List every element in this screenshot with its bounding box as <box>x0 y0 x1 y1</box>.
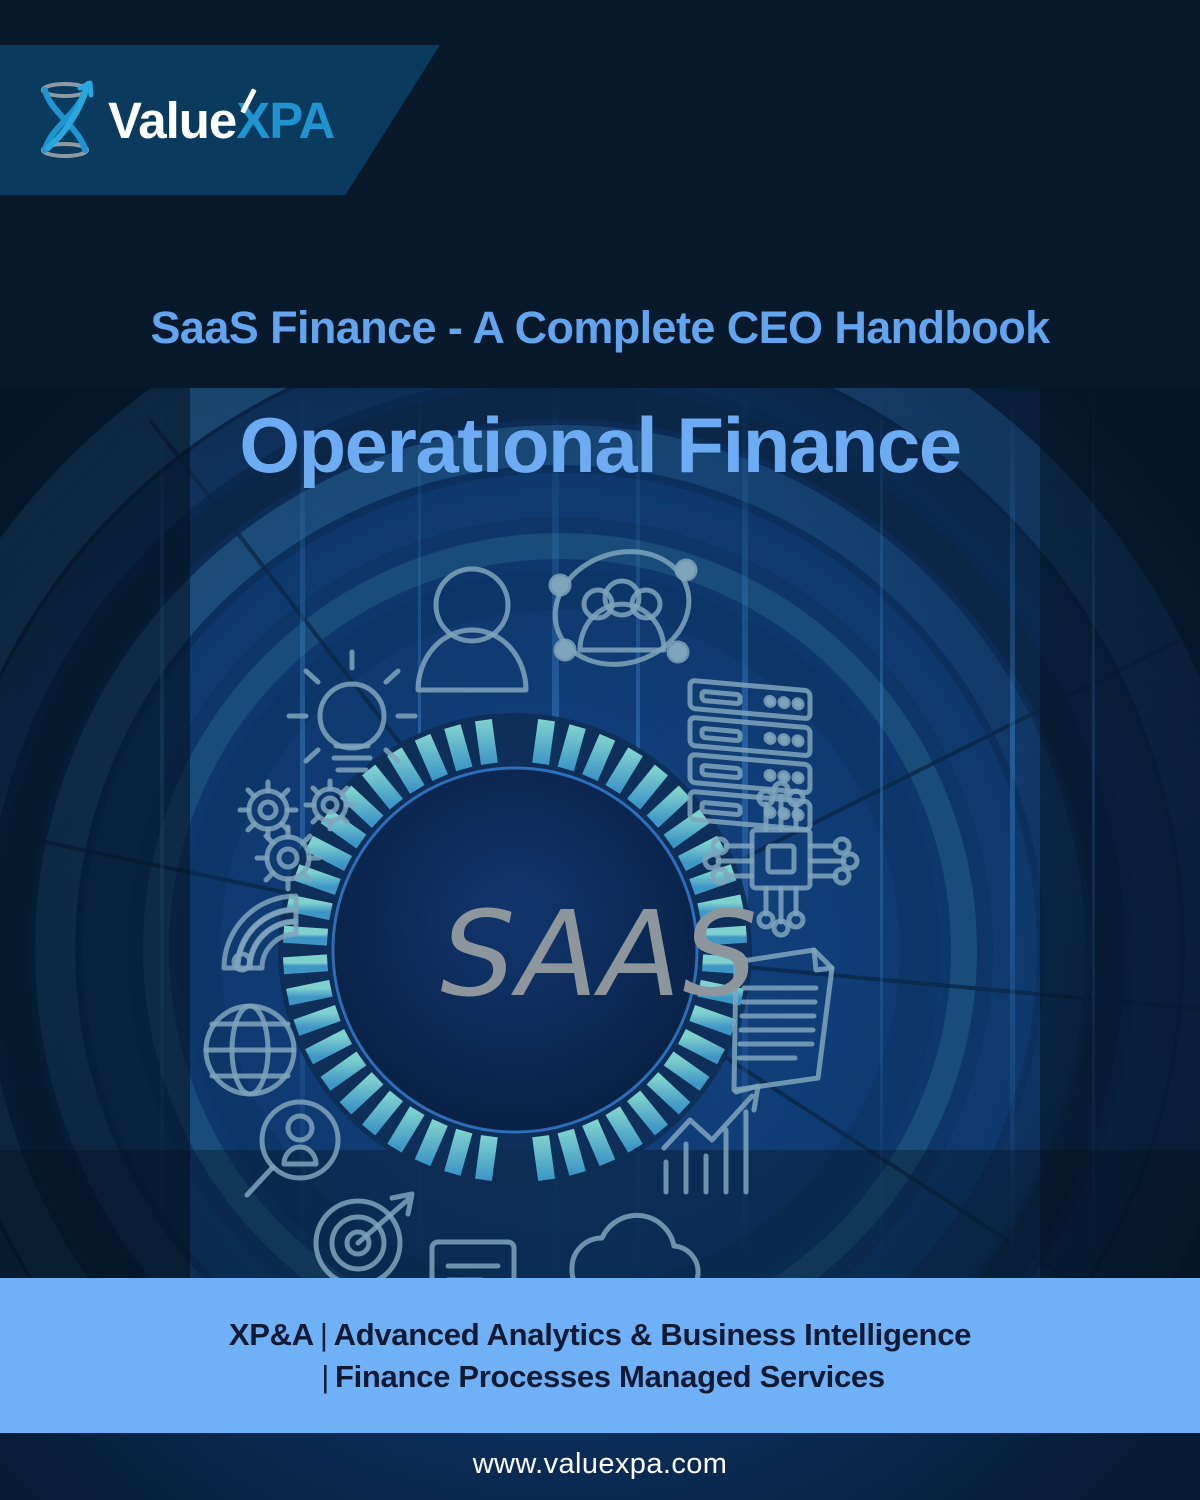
brand-word-value: Value <box>108 92 236 149</box>
server-stack-icon <box>690 680 810 829</box>
brand-word-x: X <box>236 95 269 146</box>
team-network-icon <box>540 535 703 682</box>
tagline-separator-1: | <box>314 1317 334 1352</box>
brand-logo[interactable]: ValueXPA <box>38 78 334 162</box>
poster-canvas: SAAS Operational Finance ValueXPA SaaS F… <box>0 0 1200 1500</box>
tagline-separator-2: | <box>315 1359 335 1394</box>
page-eyebrow: SaaS Finance - A Complete CEO Handbook <box>0 302 1200 354</box>
page-title: Operational Finance <box>0 400 1200 491</box>
tagline-managed-services: Finance Processes Managed Services <box>335 1359 885 1394</box>
user-search-icon <box>247 1102 338 1195</box>
tagline-line-2: |Finance Processes Managed Services <box>315 1359 885 1395</box>
tagline-line-1: XP&A|Advanced Analytics & Business Intel… <box>229 1317 971 1353</box>
saas-center-label: SAAS <box>0 885 1200 1023</box>
footer-url[interactable]: www.valuexpa.com <box>0 1448 1200 1481</box>
tagline-xpa: XP&A <box>229 1317 314 1352</box>
brand-wordmark: ValueXPA <box>108 95 334 146</box>
user-avatar-icon <box>418 569 526 690</box>
tagline-analytics: Advanced Analytics & Business Intelligen… <box>334 1317 971 1352</box>
target-arrow-icon <box>316 1194 412 1285</box>
gears-icon <box>240 781 354 889</box>
lightbulb-icon <box>289 652 415 770</box>
growth-chart-icon <box>664 1086 758 1192</box>
hourglass-arrow-icon <box>38 78 100 162</box>
brand-word-pa: PA <box>269 92 334 149</box>
tagline-banner: XP&A|Advanced Analytics & Business Intel… <box>0 1278 1200 1433</box>
